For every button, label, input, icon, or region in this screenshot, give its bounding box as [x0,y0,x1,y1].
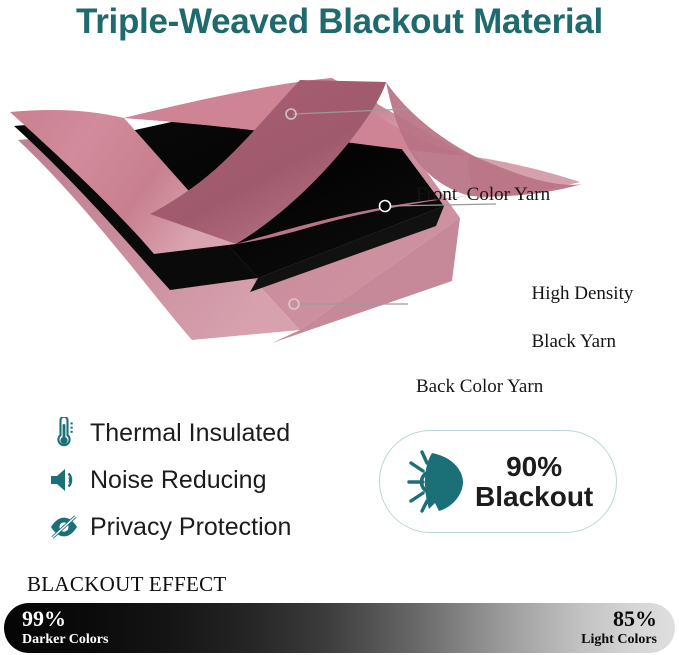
right-caption: Light Colors [581,633,657,647]
blackout-effect-left: 99% Darker Colors [22,608,108,647]
page-title: Triple-Weaved Blackout Material [0,2,679,42]
blackout-percent: 90% [475,452,593,482]
right-percent: 85% [581,608,657,630]
feature-noise-reducing: Noise Reducing [47,459,357,501]
infographic-page: Triple-Weaved Blackout Material [0,0,679,655]
blackout-effect-right: 85% Light Colors [581,608,657,647]
label-front-color-yarn: Front Color Yarn [416,183,550,207]
thermometer-icon [47,416,81,450]
label-back-color-yarn: Back Color Yarn [416,375,543,399]
blackout-badge: 90% Blackout [379,430,617,533]
left-percent: 99% [22,608,108,630]
feature-label: Thermal Insulated [90,419,290,448]
front-color-yarn-layer [10,78,582,254]
sun-blocked-icon [399,449,471,515]
feature-label: Privacy Protection [90,513,291,542]
left-caption: Darker Colors [22,633,108,647]
blackout-effect-heading: BLACKOUT EFFECT [27,572,227,597]
feature-thermal-insulated: Thermal Insulated [47,412,357,454]
eye-off-icon [47,510,81,544]
fabric-layers-diagram: Front Color Yarn High Density Black Yarn… [0,78,679,368]
label-line-2: Black Yarn [532,331,616,352]
speaker-icon [47,463,81,497]
feature-label: Noise Reducing [90,466,267,495]
label-line-1: High Density [532,283,634,304]
feature-privacy-protection: Privacy Protection [47,506,357,548]
label-high-density-black-yarn: High Density Black Yarn [503,258,633,379]
blackout-word: Blackout [475,482,593,512]
feature-list: Thermal Insulated Noise Reducing [47,412,357,553]
blackout-badge-text: 90% Blackout [475,452,593,511]
